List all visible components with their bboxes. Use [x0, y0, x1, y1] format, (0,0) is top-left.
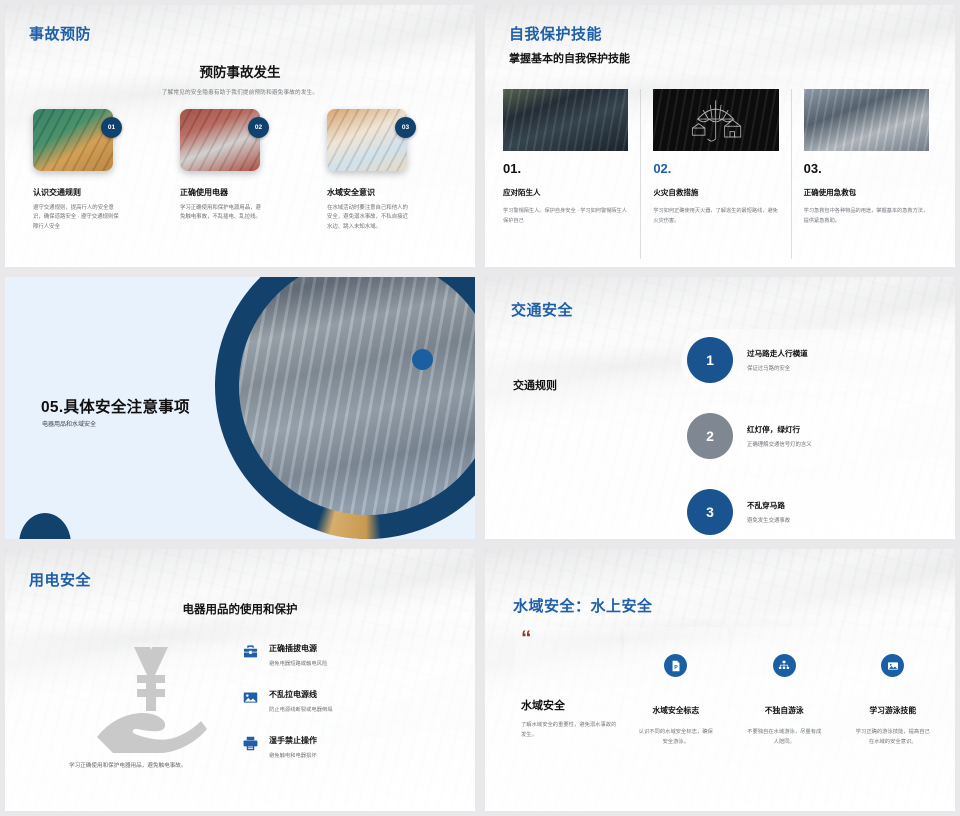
headline: 掌握基本的自我保护技能 [509, 50, 630, 66]
step-number-badge: 3 [687, 489, 733, 535]
card-title: 水域安全意识 [327, 187, 453, 198]
headline: 电器用品的使用和保护 [5, 601, 475, 617]
photo-icon [881, 654, 904, 677]
column-description: 学习警惕陌生人。保护自身安全 · 学习如何警惕陌生人保护自己 [503, 207, 628, 226]
card-description: 遵守交通规则，提高行人的安全意识，确保道路安全 · 遵守交通规则保障行人安全 [33, 204, 119, 232]
list-item[interactable]: P 水域安全标志 认识不同的水域安全标志，确保安全游泳。 [622, 627, 731, 799]
list-item[interactable]: 1 过马路走人行横道 保证过马路的安全 [681, 329, 939, 391]
card-title: 认识交通规则 [33, 187, 159, 198]
page-title: 水域安全：水上安全 [513, 595, 653, 616]
column-image-classroom-hands [804, 89, 929, 151]
section-subtitle: 电器用品和水域安全 [42, 419, 96, 428]
page-title: 用电安全 [29, 569, 91, 590]
page-title: 交通安全 [511, 299, 573, 320]
column-number: 01. [503, 161, 628, 176]
printer-icon [243, 736, 258, 751]
decorative-blob [19, 513, 71, 539]
list-item[interactable]: 学习游泳技能 学习正确的游泳技能，提高自己在水域的安全意识。 [839, 627, 948, 799]
sitemap-icon [773, 654, 796, 677]
umbrella-chalk-drawing-icon [653, 89, 778, 151]
footer-note: 学习正确使用和保护电器用品，避免触电事故。 [69, 761, 186, 769]
card-description: 在水域活动时要注意自己和他人的安全，避免溺水事故，不私自接近水边、跳入未知水域。 [327, 204, 413, 232]
slide-water-safety[interactable]: 水域安全：水上安全 “ 水域安全 了解水域安全的重要性，避免溺水事故的发生。 [485, 549, 955, 811]
slide-deck: 事故预防 预防事故发生 了解常见的安全隐患有助于我们提前预防和避免事故的发生。 … [0, 0, 960, 816]
panel-sheen [515, 627, 620, 799]
list-item[interactable]: 湿手禁止操作 避免触电和电器损坏 [243, 735, 333, 759]
item-description: 防止电源线断裂或电器倒塌 [269, 705, 333, 713]
panel-title: 学习游泳技能 [847, 705, 940, 716]
item-title: 不乱拉电源线 [269, 689, 333, 700]
card-title: 正确使用电器 [180, 187, 306, 198]
step-number-badge: 2 [687, 413, 733, 459]
side-label: 交通规则 [513, 377, 557, 393]
list-item[interactable]: 02. 火灾自救措施 学习如何正确使用灭火器，了解逃生的最短路线，避免火灾伤害。 [640, 89, 790, 259]
list-item[interactable]: 不乱拉电源线 防止电源线断裂或电器倒塌 [243, 689, 333, 713]
feature-list: 正确插拔电源 避免电器短路或触电风险 不乱拉电源线 防止电源 [243, 643, 333, 781]
subtitle: 了解常见的安全隐患有助于我们提前预防和避免事故的发生。 [5, 88, 475, 96]
card-thumbnail-book [327, 109, 407, 171]
slide-section-divider[interactable]: 05.具体安全注意事项 电器用品和水域安全 [5, 277, 475, 539]
status-badge: 03 [395, 117, 416, 138]
circular-photo-traffic [239, 277, 475, 515]
numbered-list: 1 过马路走人行横道 保证过马路的安全 2 红灯停，绿灯行 正确理解交通信号灯的… [681, 329, 939, 539]
list-item[interactable]: 03 水域安全意识 在水域活动时要注意自己和他人的安全，避免溺水事故，不私自接近… [327, 109, 453, 232]
slide-electrical-safety[interactable]: 用电安全 电器用品的使用和保护 [5, 549, 475, 811]
column-image-chalkboard-umbrella [653, 89, 778, 151]
step-number-badge: 1 [687, 337, 733, 383]
panel-description: 不要独自在水域游泳，尽量有成人陪同。 [738, 728, 831, 747]
decorative-dot [412, 349, 433, 370]
row-description: 正确理解交通信号灯的含义 [747, 440, 812, 448]
item-title: 湿手禁止操作 [269, 735, 317, 746]
row-title: 不乱穿马路 [747, 500, 790, 511]
row-title: 过马路走人行横道 [747, 348, 808, 359]
column-number: 03. [804, 161, 929, 176]
image-icon [243, 690, 258, 705]
column-list: 01. 应对陌生人 学习警惕陌生人。保护自身安全 · 学习如何警惕陌生人保护自己 [503, 89, 941, 259]
svg-text:P: P [674, 665, 678, 671]
column-title: 正确使用急救包 [804, 187, 929, 198]
column-image-graduates [503, 89, 628, 151]
section-title: 05.具体安全注意事项 [41, 395, 190, 417]
slide-traffic-safety[interactable]: 交通安全 交通规则 1 过马路走人行横道 保证过马路的安全 2 红灯停，绿灯行 … [485, 277, 955, 539]
row-description: 避免发生交通事故 [747, 516, 790, 524]
page-title: 事故预防 [29, 23, 91, 44]
list-item[interactable]: 2 红灯停，绿灯行 正确理解交通信号灯的含义 [681, 405, 939, 467]
column-description: 学习急救包中各种物品的用途，掌握基本的急救方法，提供紧急救助。 [804, 207, 929, 226]
list-item[interactable]: 01. 应对陌生人 学习警惕陌生人。保护自身安全 · 学习如何警惕陌生人保护自己 [503, 89, 640, 259]
card-thumbnail-classroom [33, 109, 113, 171]
column-description: 学习如何正确使用灭火器，了解逃生的最短路线，避免火灾伤害。 [653, 207, 778, 226]
page-title: 自我保护技能 [509, 23, 602, 44]
card-list: 01 认识交通规则 遵守交通规则，提高行人的安全意识，确保道路安全 · 遵守交通… [33, 109, 453, 232]
panel-description: 认识不同的水域安全标志，确保安全游泳。 [630, 728, 723, 747]
slide-accident-prevention[interactable]: 事故预防 预防事故发生 了解常见的安全隐患有助于我们提前预防和避免事故的发生。 … [5, 5, 475, 267]
slide-self-protection[interactable]: 自我保护技能 掌握基本的自我保护技能 01. 应对陌生人 学习警惕陌生人。保护自… [485, 5, 955, 267]
column-title: 火灾自救措施 [653, 187, 778, 198]
hand-holding-yen-icon [89, 641, 211, 753]
list-item[interactable]: 不独自游泳 不要独自在水域游泳，尽量有成人陪同。 [730, 627, 839, 799]
slide1-heading-block: 预防事故发生 了解常见的安全隐患有助于我们提前预防和避免事故的发生。 [5, 61, 475, 96]
panel-title: 不独自游泳 [738, 705, 831, 716]
card-description: 学习正确使用和保护电源用品，避免触电事故，不乱插电、乱拉线。 [180, 204, 266, 223]
lead-title: 水域安全 [521, 697, 565, 713]
panel-title: 水域安全标志 [630, 705, 723, 716]
list-item[interactable]: 3 不乱穿马路 避免发生交通事故 [681, 481, 939, 539]
list-item[interactable]: 02 正确使用电器 学习正确使用和保护电源用品，避免触电事故，不乱插电、乱拉线。 [180, 109, 306, 232]
lead-panel: “ 水域安全 了解水域安全的重要性，避免溺水事故的发生。 [513, 627, 622, 799]
row-title: 红灯停，绿灯行 [747, 424, 812, 435]
list-item[interactable]: 01 认识交通规则 遵守交通规则，提高行人的安全意识，确保道路安全 · 遵守交通… [33, 109, 159, 232]
list-item[interactable]: 正确插拔电源 避免电器短路或触电风险 [243, 643, 333, 667]
status-badge: 02 [248, 117, 269, 138]
status-badge: 01 [101, 117, 122, 138]
lead-description: 了解水域安全的重要性，避免溺水事故的发生。 [521, 721, 617, 740]
card-thumbnail-statue [180, 109, 260, 171]
panel-list: “ 水域安全 了解水域安全的重要性，避免溺水事故的发生。 P [513, 627, 947, 799]
panel-description: 学习正确的游泳技能，提高自己在水域的安全意识。 [847, 728, 940, 747]
item-title: 正确插拔电源 [269, 643, 327, 654]
quote-mark-icon: “ [521, 633, 614, 646]
column-number: 02. [653, 161, 778, 176]
column-title: 应对陌生人 [503, 187, 628, 198]
headline: 预防事故发生 [5, 61, 475, 81]
list-item[interactable]: 03. 正确使用急救包 学习急救包中各种物品的用途，掌握基本的急救方法，提供紧急… [791, 89, 941, 259]
file-p-icon: P [664, 654, 687, 677]
toolbox-icon [243, 644, 258, 659]
row-description: 保证过马路的安全 [747, 364, 808, 372]
item-description: 避免电器短路或触电风险 [269, 659, 327, 667]
item-description: 避免触电和电器损坏 [269, 751, 317, 759]
